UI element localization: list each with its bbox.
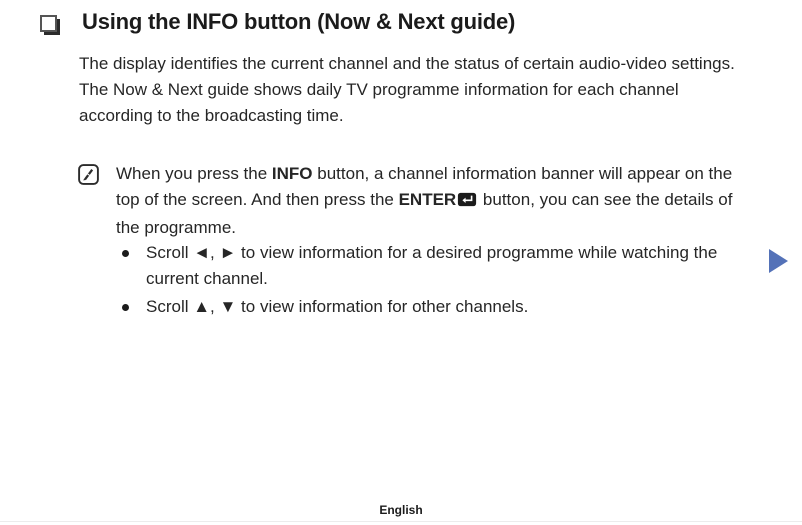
page-heading: Using the INFO button (Now & Next guide) (40, 8, 762, 37)
next-page-triangle-icon[interactable] (769, 249, 788, 273)
bullet-list: Scroll ◄, ► to view information for a de… (118, 240, 752, 320)
enter-return-key-icon (457, 189, 477, 215)
manual-page: Using the INFO button (Now & Next guide)… (0, 0, 802, 525)
bullet-dot-icon (122, 304, 129, 311)
paragraph-2: The Now & Next guide shows daily TV prog… (79, 77, 751, 129)
square-box-icon (40, 15, 62, 37)
intro-paragraphs: The display identifies the current chann… (79, 51, 751, 129)
paragraph-1: The display identifies the current chann… (79, 51, 751, 77)
note-bold-enter: ENTER (399, 190, 457, 209)
list-item-text: Scroll ◄, ► to view information for a de… (146, 243, 717, 288)
footer-language: English (0, 503, 802, 517)
note-text: When you press the INFO button, a channe… (116, 161, 752, 241)
footer-divider (0, 521, 802, 522)
bullet-dot-icon (122, 250, 129, 257)
list-item: Scroll ◄, ► to view information for a de… (118, 240, 752, 292)
page-title: Using the INFO button (Now & Next guide) (82, 8, 515, 36)
note-pen-icon (78, 164, 99, 185)
note-text-part1: When you press the (116, 164, 272, 183)
note-block: When you press the INFO button, a channe… (78, 161, 752, 241)
list-item-text: Scroll ▲, ▼ to view information for othe… (146, 297, 528, 316)
note-bold-info: INFO (272, 164, 313, 183)
list-item: Scroll ▲, ▼ to view information for othe… (118, 294, 752, 320)
